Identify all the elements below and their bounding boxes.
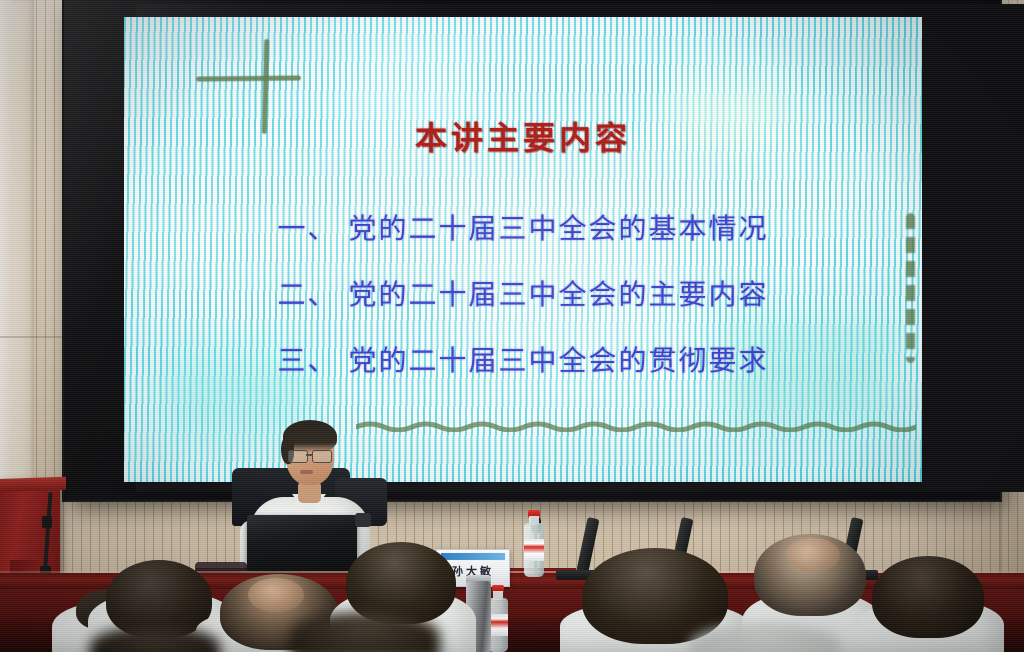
slide-bullet-2: 二、 党的二十届三中全会的主要内容 [124, 273, 922, 313]
water-bottle [488, 588, 510, 652]
slide-title: 本讲主要内容 [124, 113, 922, 159]
wall-seam [0, 336, 64, 338]
eyeglasses-icon [288, 450, 332, 461]
audience-member-foreground [290, 612, 440, 652]
slide-bullet-1: 一、 党的二十届三中全会的基本情况 [124, 207, 922, 247]
slide-bullet-3: 三、 党的二十届三中全会的贯彻要求 [124, 339, 922, 379]
speaker-mouth [300, 470, 313, 474]
cable-clip [42, 516, 52, 528]
slide-surface: 本讲主要内容 一、 党的二十届三中全会的基本情况 二、 党的二十届三中全会的主要… [124, 17, 922, 482]
lectern-top [0, 477, 66, 493]
water-bottle [524, 515, 546, 577]
audience-member [856, 568, 1004, 652]
lecture-room-photo: 本讲主要内容 一、 党的二十届三中全会的基本情况 二、 党的二十届三中全会的主要… [0, 0, 1024, 652]
laptop-hinge [355, 513, 371, 527]
slide-bullet-list: 一、 党的二十届三中全会的基本情况 二、 党的二十届三中全会的主要内容 三、 党… [124, 207, 922, 405]
